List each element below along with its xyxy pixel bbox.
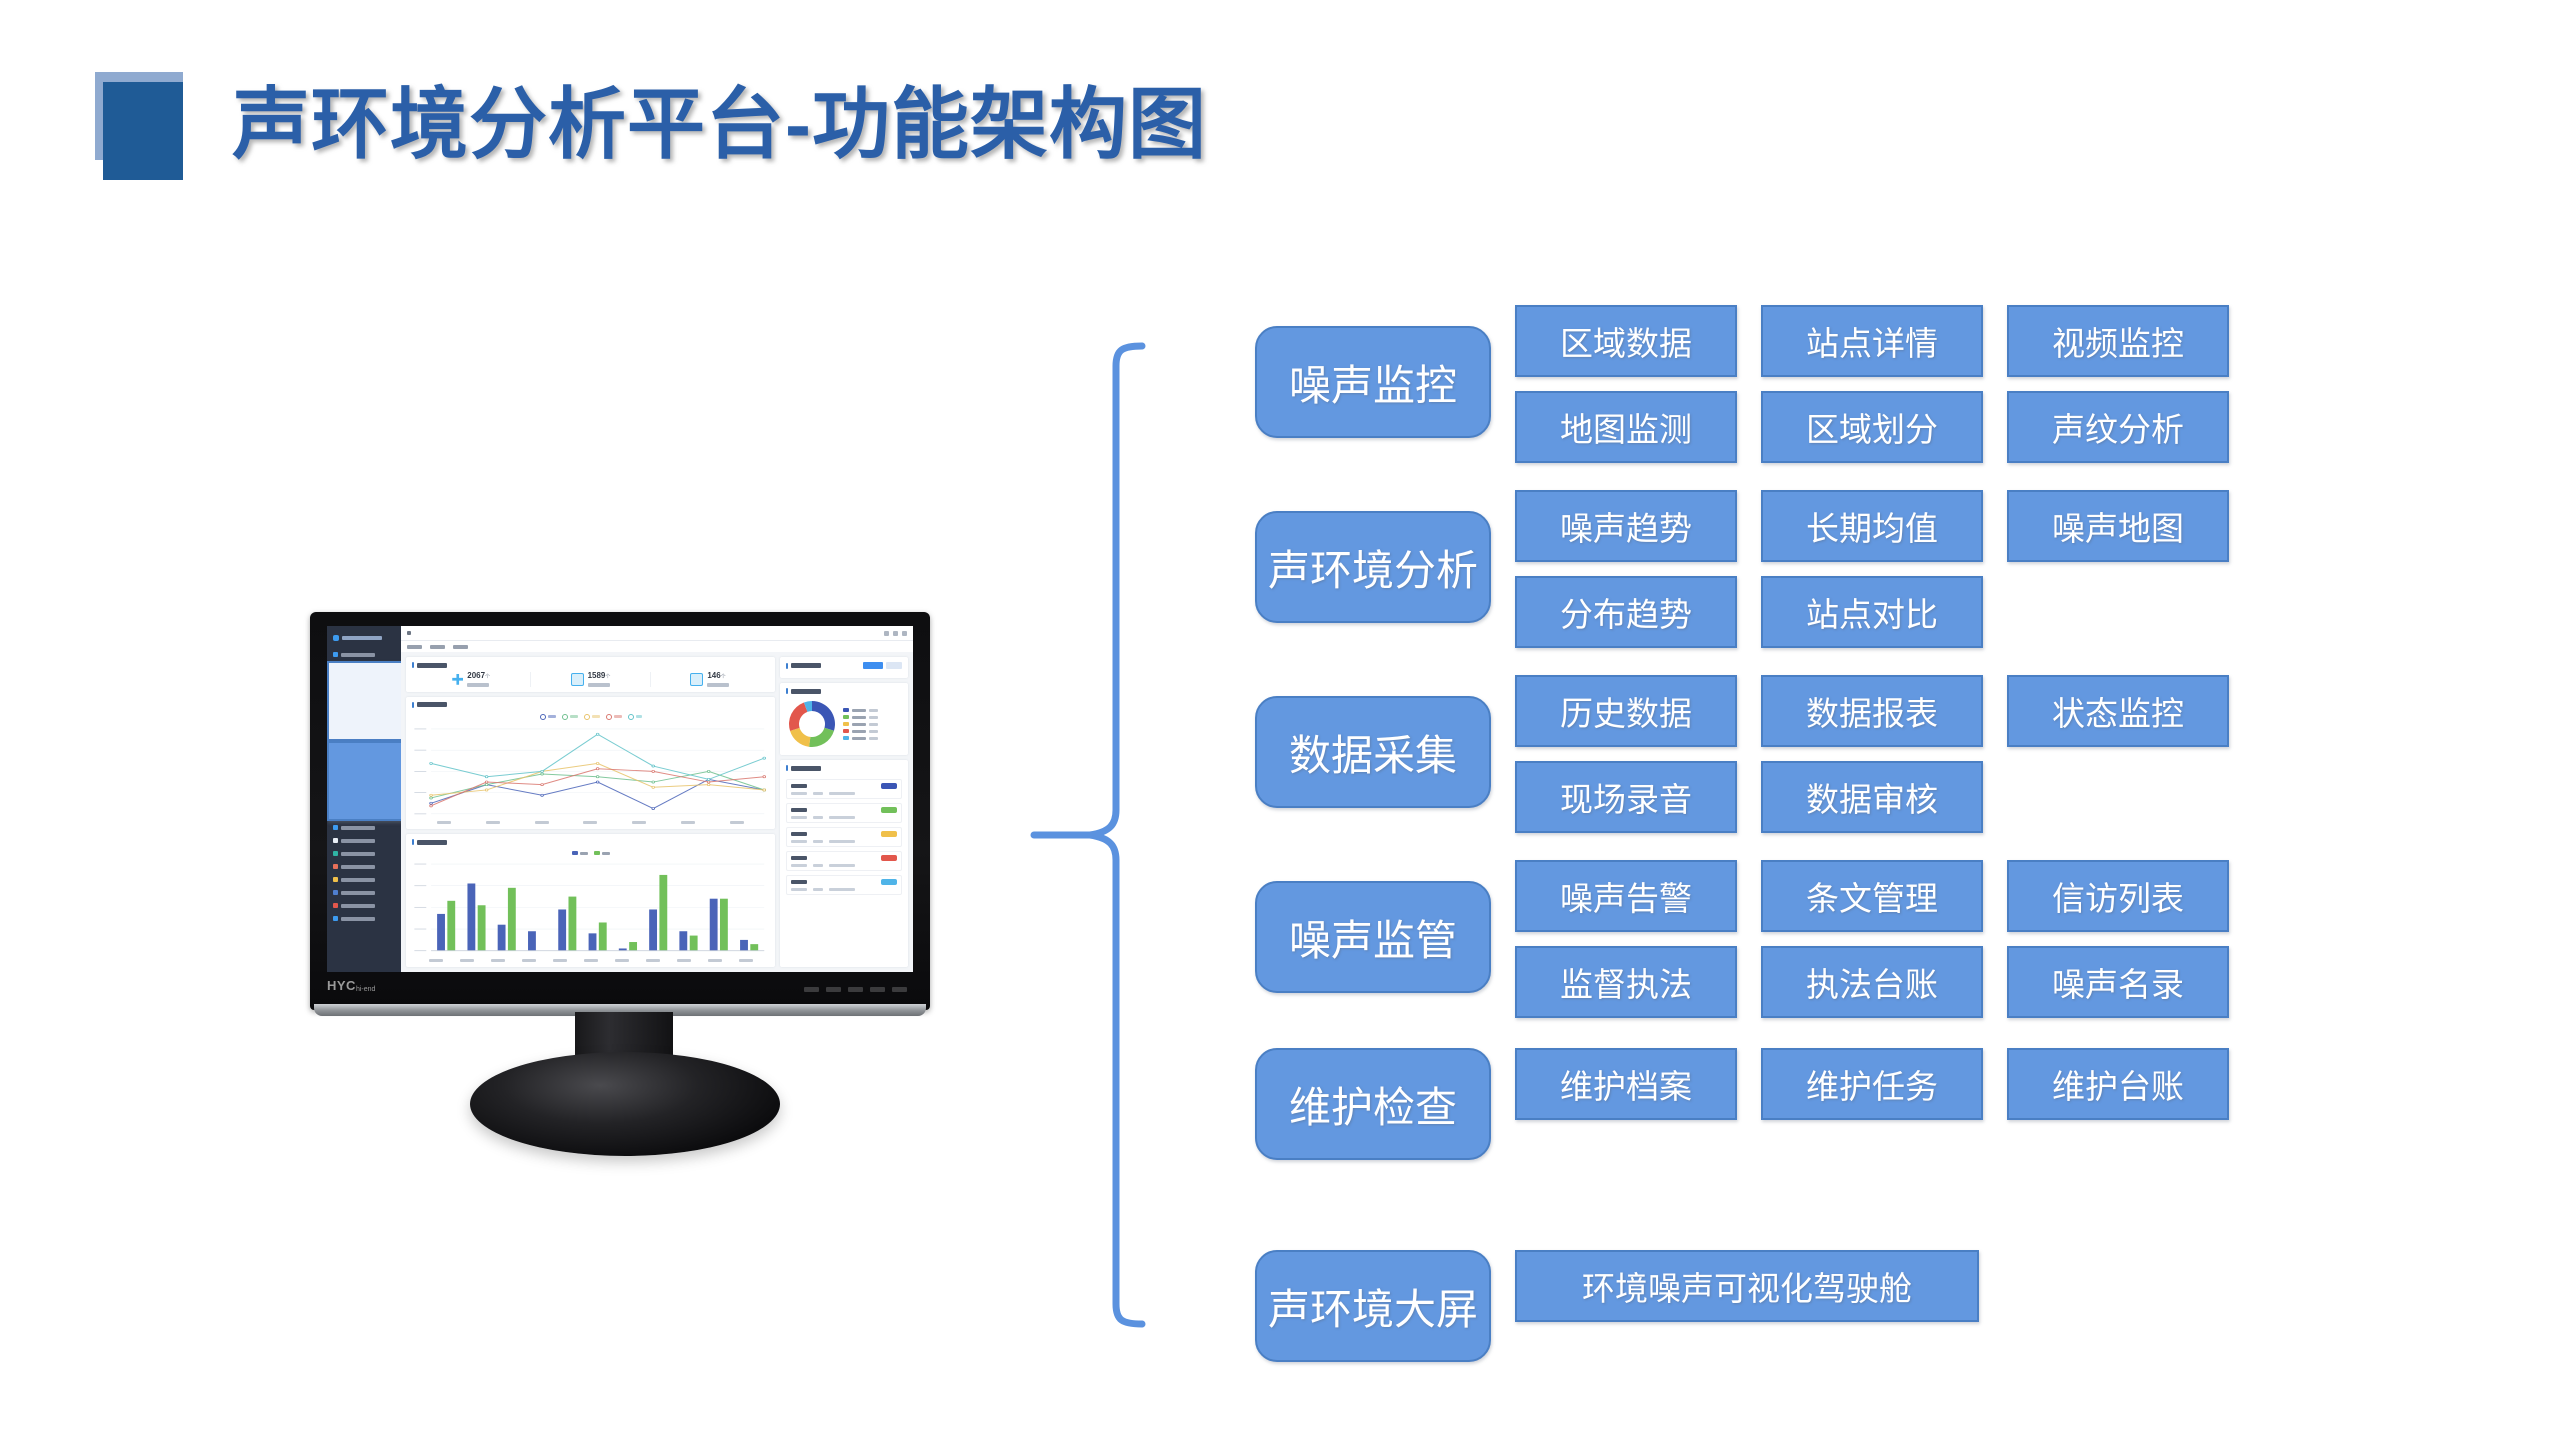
- sub-item-row: 维护档案维护任务维护台账: [1515, 1048, 2229, 1120]
- category-box[interactable]: 噪声监控: [1255, 326, 1491, 438]
- sub-item-group: 历史数据数据报表状态监控现场录音数据审核: [1515, 675, 2229, 833]
- sub-item-box[interactable]: 维护任务: [1761, 1048, 1983, 1120]
- architecture-row: 数据采集历史数据数据报表状态监控现场录音数据审核: [1255, 675, 2229, 833]
- sub-item-box[interactable]: 视频监控: [2007, 305, 2229, 377]
- sub-item-row: 噪声趋势长期均值噪声地图: [1515, 490, 2229, 562]
- sub-item-box[interactable]: 分布趋势: [1515, 576, 1737, 648]
- sub-item-box[interactable]: 地图监测: [1515, 391, 1737, 463]
- sub-item-box[interactable]: 数据报表: [1761, 675, 1983, 747]
- sub-item-row: 环境噪声可视化驾驶舱: [1515, 1250, 1979, 1322]
- architecture-row: 声环境大屏环境噪声可视化驾驶舱: [1255, 1250, 1979, 1362]
- sub-item-box[interactable]: 信访列表: [2007, 860, 2229, 932]
- architecture-row: 维护检查维护档案维护任务维护台账: [1255, 1048, 2229, 1160]
- sub-item-box[interactable]: 噪声名录: [2007, 946, 2229, 1018]
- sub-item-box[interactable]: 维护档案: [1515, 1048, 1737, 1120]
- sub-item-box[interactable]: 长期均值: [1761, 490, 1983, 562]
- sub-item-box[interactable]: 状态监控: [2007, 675, 2229, 747]
- sub-item-box[interactable]: 现场录音: [1515, 761, 1737, 833]
- sub-item-box[interactable]: 站点对比: [1761, 576, 1983, 648]
- sub-item-box[interactable]: 区域划分: [1761, 391, 1983, 463]
- sub-item-box[interactable]: 噪声告警: [1515, 860, 1737, 932]
- sub-item-box[interactable]: 维护台账: [2007, 1048, 2229, 1120]
- sub-item-group: 噪声告警条文管理信访列表监督执法执法台账噪声名录: [1515, 860, 2229, 1018]
- sub-item-row: 区域数据站点详情视频监控: [1515, 305, 2229, 377]
- category-box[interactable]: 声环境分析: [1255, 511, 1491, 623]
- sub-item-box[interactable]: 执法台账: [1761, 946, 1983, 1018]
- sub-item-group: 环境噪声可视化驾驶舱: [1515, 1250, 1979, 1322]
- sub-item-row: 现场录音数据审核: [1515, 761, 2229, 833]
- category-box[interactable]: 噪声监管: [1255, 881, 1491, 993]
- sub-item-row: 历史数据数据报表状态监控: [1515, 675, 2229, 747]
- sub-item-box[interactable]: 条文管理: [1761, 860, 1983, 932]
- category-box[interactable]: 声环境大屏: [1255, 1250, 1491, 1362]
- sub-item-box[interactable]: 噪声趋势: [1515, 490, 1737, 562]
- sub-item-group: 区域数据站点详情视频监控地图监测区域划分声纹分析: [1515, 305, 2229, 463]
- sub-item-box[interactable]: 监督执法: [1515, 946, 1737, 1018]
- sub-item-row: 分布趋势站点对比: [1515, 576, 2229, 648]
- sub-item-row: 监督执法执法台账噪声名录: [1515, 946, 2229, 1018]
- sub-item-box[interactable]: 历史数据: [1515, 675, 1737, 747]
- sub-item-group: 噪声趋势长期均值噪声地图分布趋势站点对比: [1515, 490, 2229, 648]
- sub-item-box[interactable]: 环境噪声可视化驾驶舱: [1515, 1250, 1979, 1322]
- sub-item-box[interactable]: 数据审核: [1761, 761, 1983, 833]
- architecture-row: 声环境分析噪声趋势长期均值噪声地图分布趋势站点对比: [1255, 490, 2229, 648]
- sub-item-row: 噪声告警条文管理信访列表: [1515, 860, 2229, 932]
- architecture-row: 噪声监控区域数据站点详情视频监控地图监测区域划分声纹分析: [1255, 305, 2229, 463]
- sub-item-box[interactable]: 区域数据: [1515, 305, 1737, 377]
- category-box[interactable]: 数据采集: [1255, 696, 1491, 808]
- architecture-row: 噪声监管噪声告警条文管理信访列表监督执法执法台账噪声名录: [1255, 860, 2229, 1018]
- sub-item-box[interactable]: 站点详情: [1761, 305, 1983, 377]
- sub-item-group: 维护档案维护任务维护台账: [1515, 1048, 2229, 1120]
- sub-item-row: 地图监测区域划分声纹分析: [1515, 391, 2229, 463]
- category-box[interactable]: 维护检查: [1255, 1048, 1491, 1160]
- sub-item-box[interactable]: 噪声地图: [2007, 490, 2229, 562]
- sub-item-box[interactable]: 声纹分析: [2007, 391, 2229, 463]
- architecture-rows: 噪声监控区域数据站点详情视频监控地图监测区域划分声纹分析声环境分析噪声趋势长期均…: [0, 0, 2560, 1440]
